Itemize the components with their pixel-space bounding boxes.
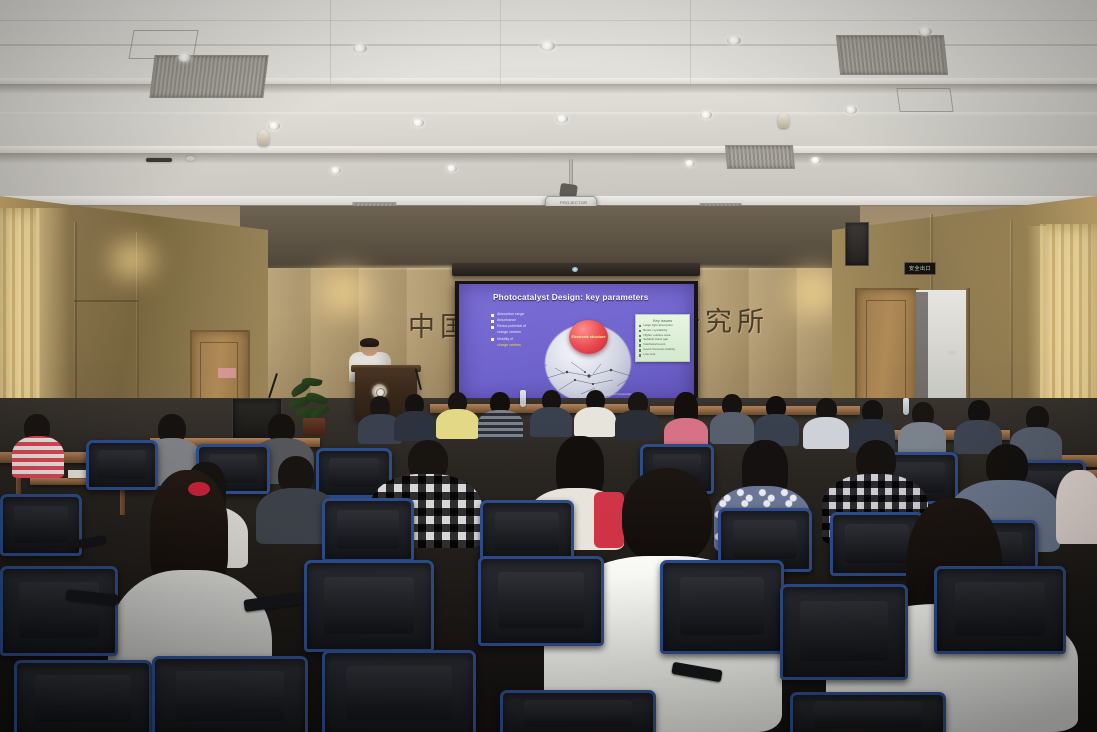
ceiling-downlight (446, 165, 457, 172)
ceiling-tile-seam (0, 20, 1097, 21)
ceiling-downlight (918, 27, 932, 36)
ceiling-vent-left (149, 55, 268, 98)
exit-sign-label: 安全出口 (909, 265, 931, 272)
slide-bullet-text: Absorption range (497, 312, 524, 317)
door-handle-icon[interactable] (948, 350, 956, 355)
ceiling-soffit-step-2 (0, 146, 1097, 153)
slide-bullet-text: charge carriers (497, 330, 521, 335)
ceiling-track (146, 158, 172, 162)
bag (594, 492, 624, 548)
ceiling-spotlight (258, 130, 269, 146)
slide-bullet-item: Redox potential of (491, 324, 577, 329)
ceiling-spotlight (778, 113, 789, 128)
slide-bullet-item: Absorbance (491, 318, 577, 323)
chair[interactable] (0, 566, 118, 656)
ceiling-tile-seam-v2 (500, 0, 501, 90)
chair[interactable] (660, 560, 784, 654)
slide-bullet-text: Redox potential of (497, 324, 526, 329)
slide-key-issues-title: Key issues (636, 318, 689, 323)
chair[interactable] (934, 566, 1066, 654)
head (622, 468, 712, 564)
wall-wash-light (300, 262, 390, 322)
torso (530, 407, 572, 437)
torso (394, 411, 436, 441)
ceiling-downlight (556, 115, 568, 123)
bullet-marker-icon (639, 339, 641, 341)
front-wall-upper-band (240, 206, 860, 268)
torso (436, 409, 479, 439)
ceiling-downlight (330, 167, 341, 174)
key-issue-item: Low cost (639, 353, 689, 357)
ceiling-downlight (810, 157, 821, 164)
torso (803, 417, 849, 449)
left-door-sign (218, 368, 236, 378)
left-wall-wash-light (92, 236, 172, 284)
hair-tie (188, 482, 210, 496)
slide-bullet-text: charge carriers (497, 343, 521, 348)
ceiling-downlight (845, 106, 857, 114)
slide-electronic-structure-sphere: Electronic structure (569, 320, 608, 354)
exit-sign: 安全出口 (904, 262, 936, 275)
ceiling-seam-a (0, 112, 1097, 116)
slide-bullet-text: Mobility of (497, 337, 513, 342)
bullet-marker-icon (491, 326, 494, 329)
lecture-hall-photo: PROJECTOR 中国科 研究所 安全出口 Photocatal (0, 0, 1097, 732)
bullet-marker-icon (639, 354, 641, 356)
bullet-marker-icon (639, 349, 641, 351)
ceiling-downlight (727, 36, 741, 45)
ceiling-tile-seam-v3 (690, 0, 691, 88)
bullet-marker-icon (639, 325, 641, 327)
chair[interactable] (304, 560, 434, 652)
bullet-marker-icon (639, 330, 641, 332)
presenter-hair (360, 338, 379, 347)
torso (1056, 470, 1097, 544)
chair[interactable] (0, 494, 82, 556)
slide-bullet-text: Absorbance (497, 318, 516, 323)
screen-indicator-icon (572, 267, 578, 272)
chair[interactable] (86, 440, 158, 490)
torso (615, 410, 660, 440)
slide-bullet-item: Absorption range (491, 312, 577, 317)
chair[interactable] (480, 500, 574, 564)
plant-pot (303, 418, 325, 436)
key-issue-text: Low cost (643, 353, 655, 357)
chair[interactable] (152, 656, 308, 732)
key-issue-item: Large light absorption (639, 324, 689, 328)
ceiling-downlight (540, 41, 555, 51)
key-issue-text: Better crystallinity (643, 329, 667, 333)
ceiling-downlight (353, 44, 367, 53)
torso (710, 412, 754, 444)
bullet-marker-icon (491, 320, 494, 323)
key-issue-text: Large light absorption (643, 324, 673, 328)
bullet-marker-icon (491, 314, 494, 317)
ceiling-vent-right (836, 35, 948, 75)
projector-brand-label: PROJECTOR (560, 200, 587, 205)
chair[interactable] (14, 660, 152, 732)
torso (12, 436, 64, 478)
water-bottle (520, 390, 526, 407)
chair[interactable] (790, 692, 946, 732)
projection-screen: Photocatalyst Design: key parameters Abs… (459, 284, 694, 404)
ceiling-downlight (412, 119, 424, 127)
water-bottle (903, 398, 909, 415)
smoke-detector (186, 156, 195, 161)
ceiling-downlight (268, 122, 280, 130)
torso (478, 410, 523, 440)
ceiling-access-panel-right (896, 88, 953, 112)
svg-text:e-: e- (545, 364, 547, 367)
chair[interactable] (500, 690, 656, 732)
ceiling-vent-center (725, 145, 795, 169)
chair[interactable] (780, 584, 908, 680)
bullet-marker-icon (639, 344, 641, 346)
slide-key-issues-box: Key issues Large light absorption Better… (635, 314, 690, 362)
ceiling-downlight (684, 160, 695, 167)
bullet-marker-icon (639, 335, 641, 337)
ceiling-downlight (700, 111, 712, 119)
torso (574, 407, 616, 437)
chair[interactable] (478, 556, 604, 646)
bullet-marker-icon (491, 338, 494, 341)
slide-title: Photocatalyst Design: key parameters (493, 293, 649, 302)
slide-sphere-label: Electronic structure (572, 335, 606, 339)
chair[interactable] (322, 498, 414, 562)
ceiling-downlight (178, 53, 191, 62)
key-issue-item: Better crystallinity (639, 329, 689, 333)
ceiling-tile-seam-v1 (330, 0, 331, 90)
left-wall-rail (74, 300, 138, 302)
chair[interactable] (322, 650, 476, 732)
torso (898, 422, 946, 456)
wall-mounted-speaker (845, 222, 869, 266)
